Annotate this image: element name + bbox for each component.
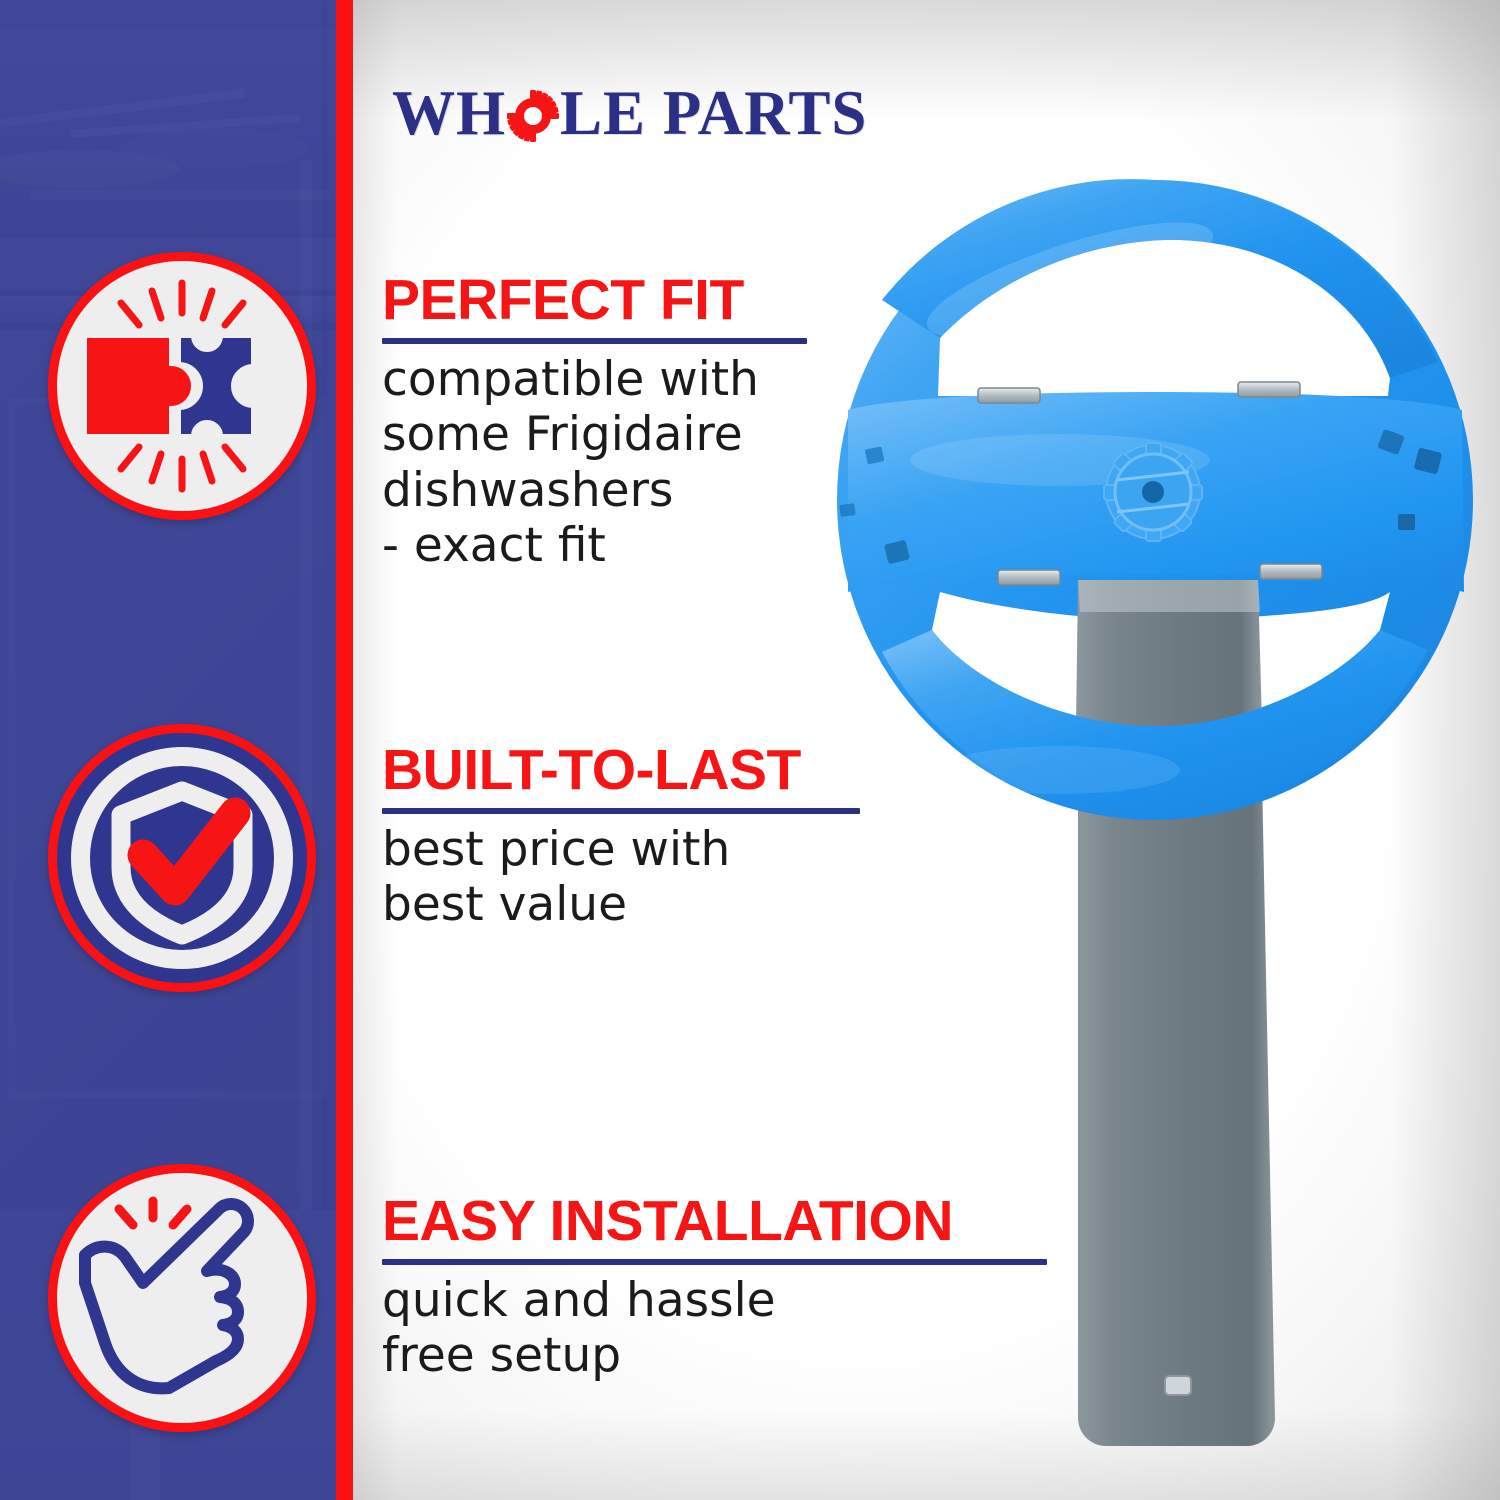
brand-logo-text-suffix: LE PARTS	[560, 82, 867, 145]
product-feature-infographic: WH	[0, 0, 1500, 1500]
feature-underline	[382, 338, 807, 344]
feature-underline	[382, 808, 860, 814]
feature-description-line: best value	[382, 877, 860, 932]
feature-description-line: - exact fit	[382, 518, 807, 573]
feature-block-perfect-fit: PERFECT FIT compatible with some Frigida…	[382, 272, 807, 574]
gear-icon	[507, 90, 559, 142]
feature-description: compatible with some Frigidaire dishwash…	[382, 352, 807, 574]
feature-description-line: best price with	[382, 822, 860, 877]
feature-title: BUILT-TO-LAST	[382, 742, 860, 799]
product-photo	[820, 160, 1500, 1450]
pointing-hand-icon	[48, 1164, 316, 1432]
feature-description: best price with best value	[382, 822, 860, 933]
brand-logo-text-prefix: WH	[392, 82, 506, 145]
feature-description-line: some Frigidaire	[382, 407, 807, 462]
puzzle-pieces-icon	[48, 252, 316, 520]
product-blue-wheel	[837, 179, 1473, 820]
brand-logo: WH	[392, 82, 867, 145]
feature-description-line: compatible with	[382, 352, 807, 407]
feature-title: PERFECT FIT	[382, 272, 807, 329]
feature-description-line: dishwashers	[382, 463, 807, 518]
feature-block-built-to-last: BUILT-TO-LAST best price with best value	[382, 742, 860, 933]
vertical-red-divider	[336, 0, 353, 1500]
shield-check-icon	[48, 724, 316, 992]
product-hub	[1104, 443, 1202, 541]
